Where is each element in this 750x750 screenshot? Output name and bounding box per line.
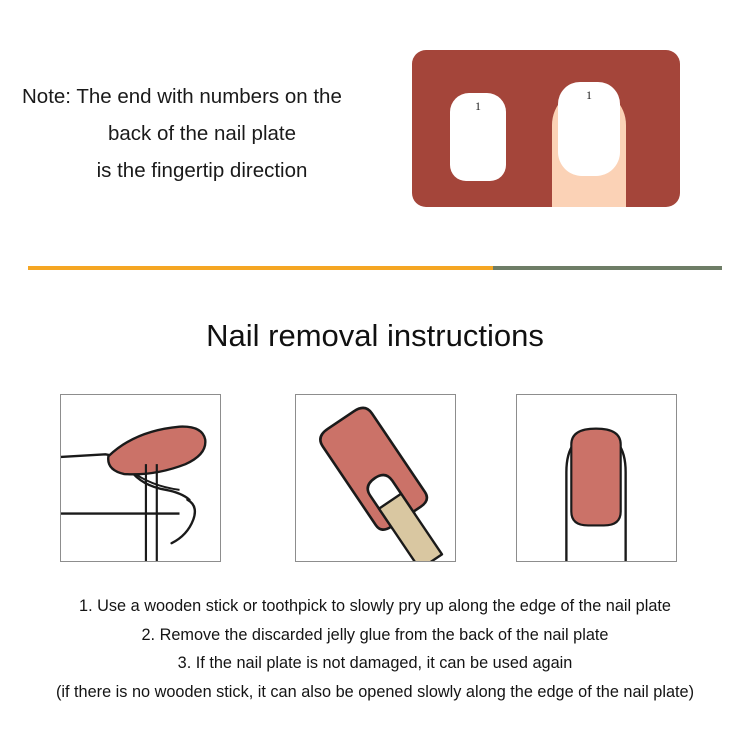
- page-title: Nail removal instructions: [0, 318, 750, 354]
- pry-side-view-illustration: [61, 395, 220, 561]
- stick-under-plate-illustration: [296, 395, 455, 561]
- applied-nail-chip: 1: [558, 82, 620, 176]
- divider-segment-orange: [28, 266, 493, 270]
- divider-segment-green: [493, 266, 722, 270]
- loose-nail-chip: 1: [450, 93, 506, 181]
- illustration-panel-row: [0, 394, 750, 564]
- finger-with-plate-illustration: [517, 395, 676, 561]
- panel-stick-under-plate: [295, 394, 456, 562]
- panel-pry-side-view: [60, 394, 221, 562]
- note-line-3: is the fingertip direction: [22, 152, 382, 189]
- note-section: Note: The end with numbers on the back o…: [0, 0, 750, 255]
- panel-finger-with-plate: [516, 394, 677, 562]
- section-divider: [28, 266, 722, 270]
- note-line-2: back of the nail plate: [22, 115, 382, 152]
- nail-chip-number-left: 1: [450, 99, 506, 114]
- instruction-line-2: 2. Remove the discarded jelly glue from …: [0, 621, 750, 650]
- note-text-block: Note: The end with numbers on the back o…: [22, 78, 382, 189]
- note-line-1: Note: The end with numbers on the: [22, 78, 382, 115]
- instruction-line-4: (if there is no wooden stick, it can als…: [0, 678, 750, 707]
- nail-chip-number-right: 1: [558, 88, 620, 103]
- instruction-line-3: 3. If the nail plate is not damaged, it …: [0, 649, 750, 678]
- instruction-line-1: 1. Use a wooden stick or toothpick to sl…: [0, 592, 750, 621]
- instructions-list: 1. Use a wooden stick or toothpick to sl…: [0, 592, 750, 706]
